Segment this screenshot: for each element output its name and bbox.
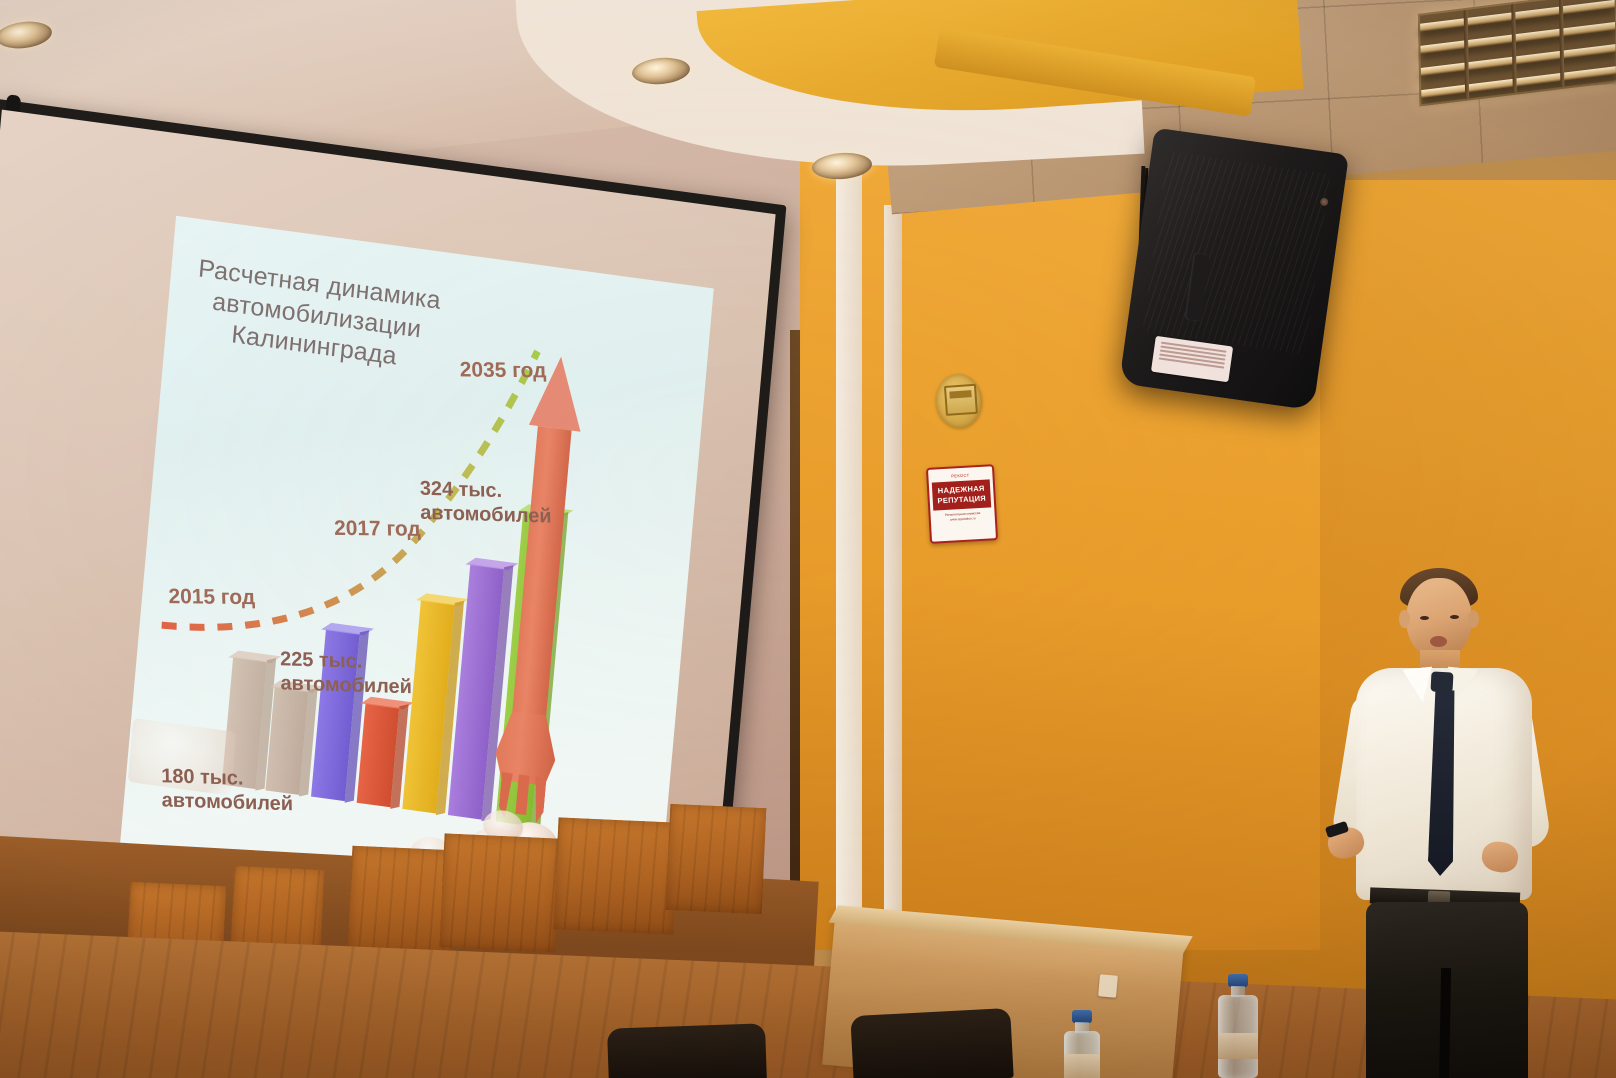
ear (1399, 610, 1410, 628)
bar-item (357, 703, 400, 807)
wall-socket-icon (1098, 974, 1118, 997)
wood-panel (439, 833, 560, 952)
year-label-2015: 2015 год (168, 585, 255, 610)
eye (1420, 616, 1429, 620)
presenter-person (1300, 560, 1600, 1078)
year-label-2035: 2035 год (459, 358, 546, 383)
eye (1450, 615, 1459, 619)
ear (1468, 610, 1479, 628)
necktie-knot (1430, 671, 1453, 692)
bar-item (402, 600, 454, 814)
water-bottle[interactable] (1218, 974, 1258, 1078)
conference-room-photo: Расчетная динамика автомобилизации Калин… (0, 0, 1616, 1078)
wood-panel (554, 817, 679, 934)
plaque-footer: Региональная комиссия www.reputation.ru (931, 510, 995, 523)
chair-back (850, 1008, 1013, 1078)
screen-surface: Расчетная динамика автомобилизации Калин… (0, 110, 776, 940)
plaque-main-text: НАДЕЖНАЯ РЕПУТАЦИЯ (932, 479, 991, 510)
chair-back (607, 1023, 767, 1078)
ceiling-speaker (1119, 128, 1349, 411)
value-label-180: 180 тыс. автомобилей (161, 765, 293, 816)
mouth (1430, 636, 1447, 647)
water-bottle[interactable] (1064, 1010, 1100, 1078)
white-pillar (836, 150, 862, 950)
value-label-225: 225 тыс. автомобилей (280, 648, 412, 699)
leg-seam (1439, 968, 1451, 1078)
year-label-2017: 2017 год (334, 517, 421, 542)
projection-screen: Расчетная динамика автомобилизации Калин… (0, 62, 808, 892)
value-label-324: 324 тыс. автомобилей (420, 478, 552, 529)
plaque-top-text: РЕКОСТ (928, 471, 992, 480)
wall-plaque: РЕКОСТ НАДЕЖНАЯ РЕПУТАЦИЯ Региональная к… (926, 464, 998, 544)
wood-panel (666, 804, 767, 914)
white-pillar-edge (884, 205, 902, 965)
presentation-slide: Расчетная динамика автомобилизации Калин… (120, 216, 714, 916)
